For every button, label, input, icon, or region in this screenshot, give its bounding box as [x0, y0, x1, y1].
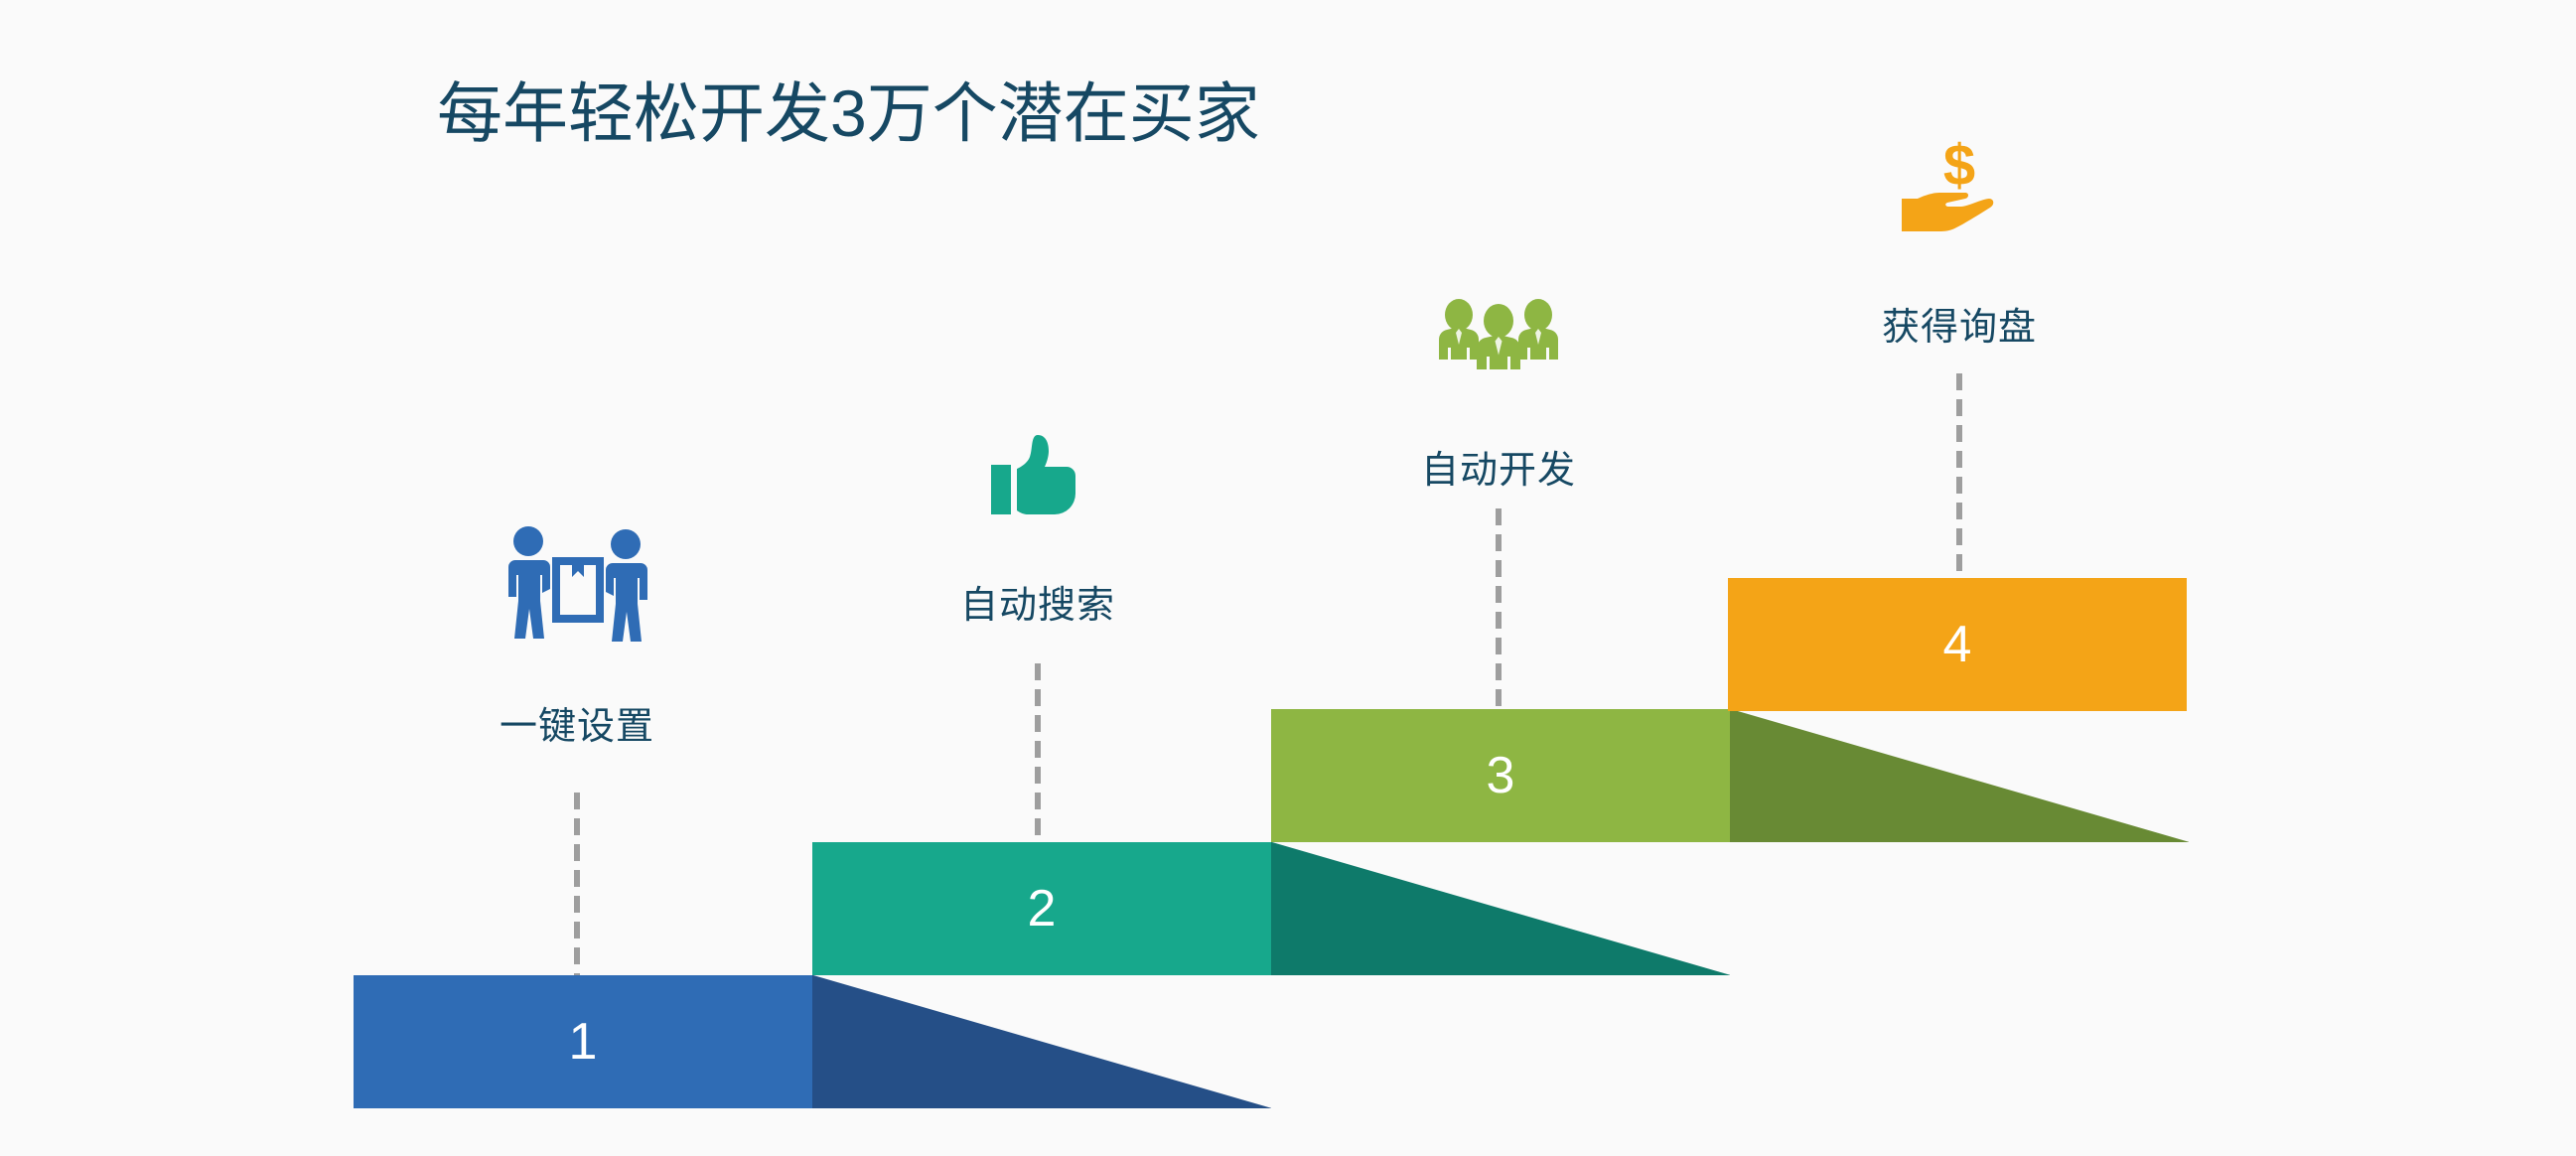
connector-step-1: [574, 793, 580, 975]
svg-text:$: $: [1943, 137, 1975, 198]
step-2-label: 自动搜索: [960, 574, 1115, 629]
two-people-carrying-box-icon: [502, 524, 651, 663]
step-1-wedge: [812, 975, 1271, 1108]
step-3-number: 3: [1271, 709, 1730, 842]
step-2-wedge: [1271, 842, 1730, 975]
step-3-wedge: [1730, 709, 2189, 842]
infographic-canvas: 每年轻松开发3万个潜在买家 1 一键设置: [0, 0, 2576, 1156]
thumbs-up-icon: [983, 425, 1092, 534]
connector-step-2: [1035, 663, 1041, 842]
page-title: 每年轻松开发3万个潜在买家: [437, 77, 1260, 151]
connector-step-4: [1956, 373, 1962, 578]
hand-holding-dollar-icon: $: [1900, 137, 2019, 236]
step-1-number: 1: [354, 975, 812, 1108]
step-3-label: 自动开发: [1421, 439, 1576, 494]
step-4-label: 获得询盘: [1882, 296, 2037, 351]
step-1-label: 一键设置: [500, 695, 654, 750]
connector-step-3: [1496, 508, 1502, 709]
three-people-group-icon: [1435, 298, 1562, 369]
step-4-number: 4: [1728, 578, 2187, 711]
step-2-number: 2: [812, 842, 1271, 975]
